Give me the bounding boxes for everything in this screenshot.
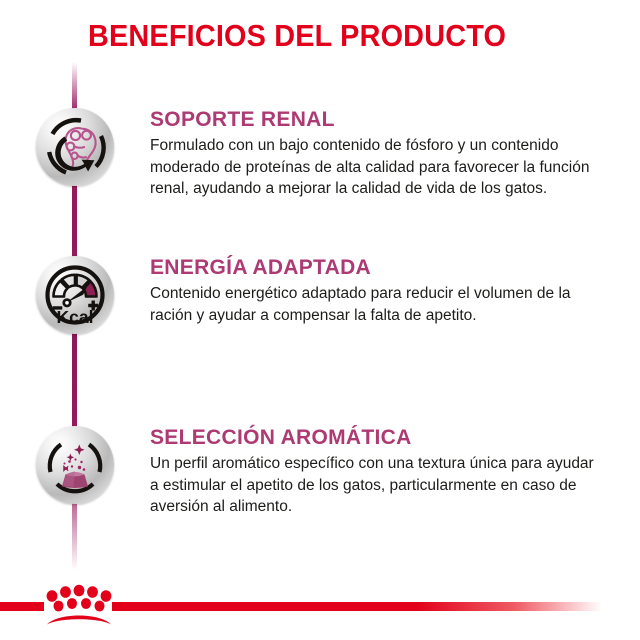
benefit-title: SELECCIÓN AROMÁTICA (150, 426, 605, 450)
royal-canin-crown-logo (38, 583, 120, 629)
benefit-title: ENERGÍA ADAPTADA (150, 256, 605, 280)
benefit-text-block: SELECCIÓN AROMÁTICA Un perfil aromático … (150, 426, 605, 518)
page-title: BENEFICIOS DEL PRODUCTO (88, 18, 506, 54)
svg-text:Kcal: Kcal (57, 307, 94, 327)
kidney-icon (36, 108, 114, 186)
benefit-title: SOPORTE RENAL (150, 108, 605, 132)
benefit-body: Un perfil aromático específico con una t… (150, 453, 605, 518)
benefit-text-block: SOPORTE RENAL Formulado con un bajo cont… (150, 108, 605, 200)
benefit-text-block: ENERGÍA ADAPTADA Contenido energético ad… (150, 256, 605, 326)
benefit-body: Formulado con un bajo contenido de fósfo… (150, 135, 605, 200)
benefit-body: Contenido energético adaptado para reduc… (150, 283, 605, 326)
kcal-gauge-icon: Kcal (36, 256, 114, 334)
footer-rule-right (112, 602, 602, 611)
footer (0, 558, 640, 640)
aroma-bowl-icon (36, 426, 114, 504)
